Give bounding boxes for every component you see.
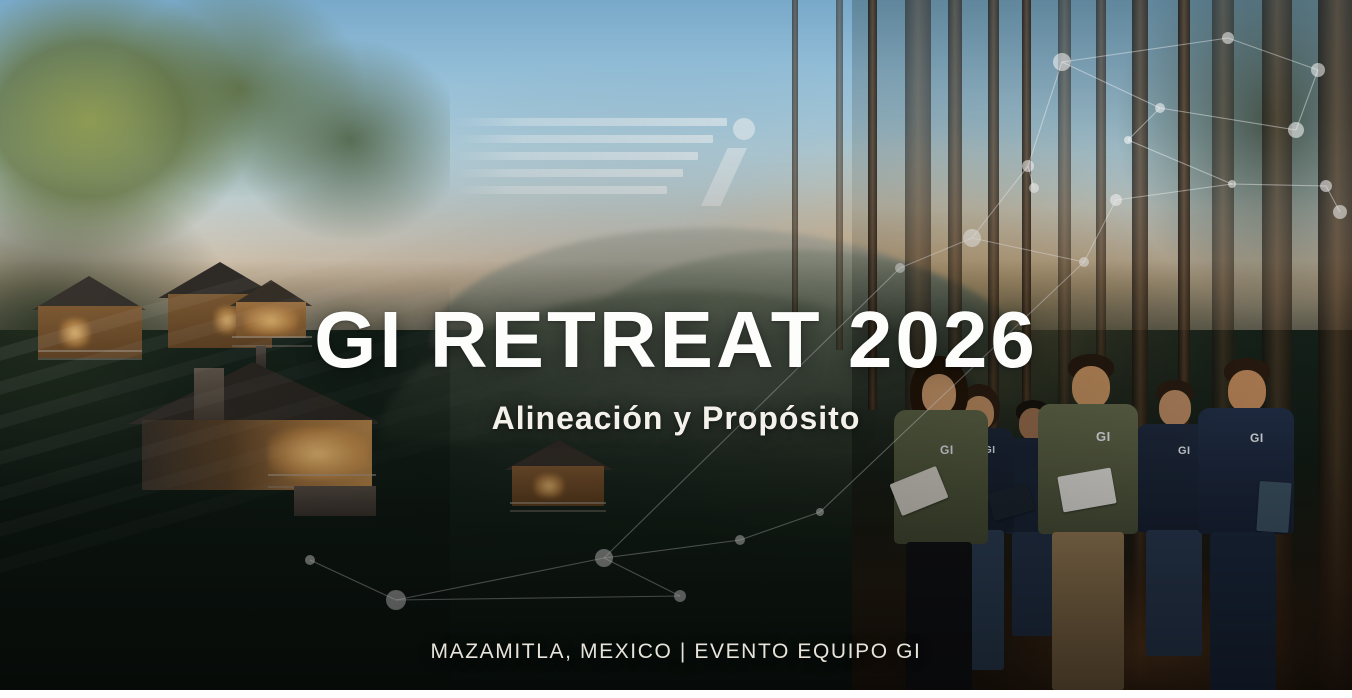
event-location-line: MAZAMITLA, MEXICO | EVENTO EQUIPO GI — [0, 640, 1352, 664]
bottom-white-strip — [0, 690, 1352, 698]
hero-text-block: GI RETREAT 2026 Alineación y Propósito — [0, 300, 1352, 434]
event-hero-banner: GI GI GI GI — [0, 0, 1352, 690]
page-title: GI RETREAT 2026 — [0, 300, 1352, 380]
page-subtitle: Alineación y Propósito — [0, 402, 1352, 434]
